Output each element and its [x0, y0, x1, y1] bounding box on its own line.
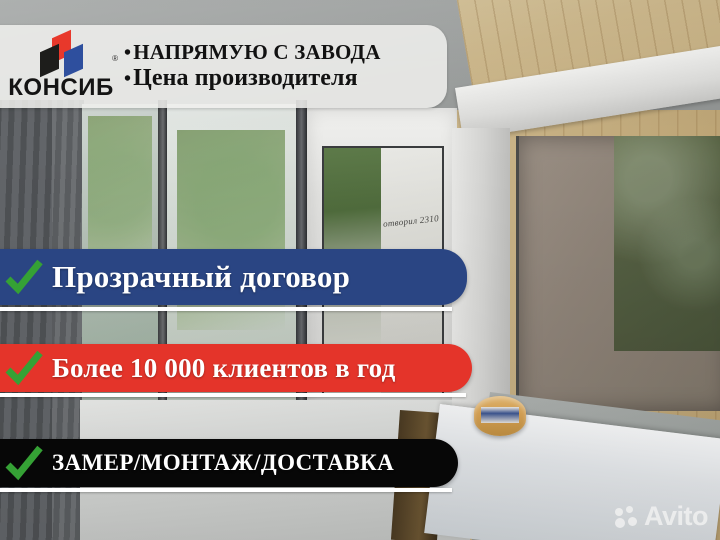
feature-banner-clients-underline	[0, 393, 466, 397]
company-logo: КОНСИБ ®	[2, 34, 120, 100]
feature-banner-contract: Прозрачный договор	[0, 249, 467, 305]
feature-banner-clients-label: Более 10 000 клиентов в год	[52, 353, 395, 384]
check-mark-icon	[4, 443, 44, 483]
registered-trademark-symbol: ®	[112, 54, 118, 63]
avito-dots-icon	[615, 506, 639, 528]
logo-wordmark: КОНСИБ	[8, 76, 113, 100]
logo-mark-icon	[33, 34, 89, 74]
check-mark-icon	[4, 257, 44, 297]
bullet-dot-icon: •	[124, 69, 131, 89]
bullet-dot-icon: •	[124, 43, 131, 63]
feature-banner-service-underline	[0, 488, 452, 492]
header-bullet-item-2-label: Цена производителя	[133, 65, 358, 92]
avito-watermark: Avito	[615, 503, 708, 530]
feature-banner-service-label: ЗАМЕР/МОНТАЖ/ДОСТАВКА	[52, 450, 394, 476]
feature-banner-clients: Более 10 000 клиентов в год	[0, 344, 472, 392]
header-bullet-list: • НАПРЯМУЮ С ЗАВОДА • Цена производителя	[124, 41, 381, 92]
check-mark-icon	[4, 348, 44, 388]
header-panel: КОНСИБ ® • НАПРЯМУЮ С ЗАВОДА • Цена прои…	[0, 25, 447, 108]
logo-parallelogram-black-icon	[40, 43, 59, 76]
header-bullet-item-2: • Цена производителя	[124, 65, 381, 92]
feature-banner-service: ЗАМЕР/МОНТАЖ/ДОСТАВКА	[0, 439, 458, 487]
feature-banner-contract-label: Прозрачный договор	[52, 259, 350, 295]
advertisement-image: КОНСИБ ® • НАПРЯМУЮ С ЗАВОДА • Цена прои…	[0, 0, 720, 540]
avito-wordmark: Avito	[644, 503, 708, 530]
header-bullet-item-1: • НАПРЯМУЮ С ЗАВОДА	[124, 41, 381, 65]
feature-banner-contract-underline	[0, 307, 452, 311]
header-bullet-item-1-label: НАПРЯМУЮ С ЗАВОДА	[133, 41, 380, 65]
